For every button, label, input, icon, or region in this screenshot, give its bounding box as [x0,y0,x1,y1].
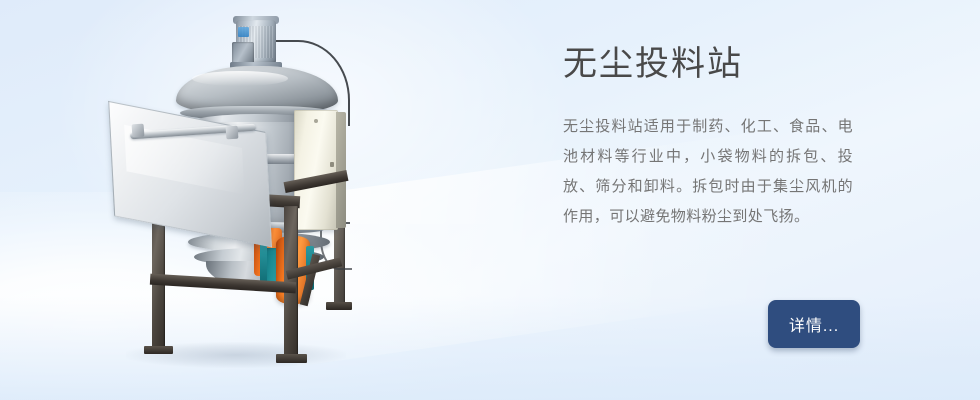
control-cabinet-screw [314,119,318,123]
frame-foot-front-right [276,354,307,363]
banner-copy: 无尘投料站 无尘投料站适用于制药、化工、食品、电池材料等行业中，小袋物料的拆包、… [563,44,893,232]
product-banner: 无尘投料站 无尘投料站适用于制药、化工、食品、电池材料等行业中，小袋物料的拆包、… [0,0,980,400]
motor-junction-box [232,42,254,64]
motor-label [238,27,249,37]
page-title: 无尘投料站 [563,44,893,85]
product-description: 无尘投料站适用于制药、化工、食品、电池材料等行业中，小袋物料的拆包、投放、筛分和… [563,85,853,232]
detail-button[interactable]: 详情... [768,300,860,348]
cover-plate-hinge-right [226,126,239,140]
product-image [108,6,408,374]
cover-plate-hinge-left [132,124,145,138]
control-cabinet [294,110,338,230]
sieve-dome-highlight [192,71,288,86]
control-cabinet-latch [330,162,334,167]
frame-foot-front-left [144,346,173,354]
frame-foot-back-right [326,302,352,310]
